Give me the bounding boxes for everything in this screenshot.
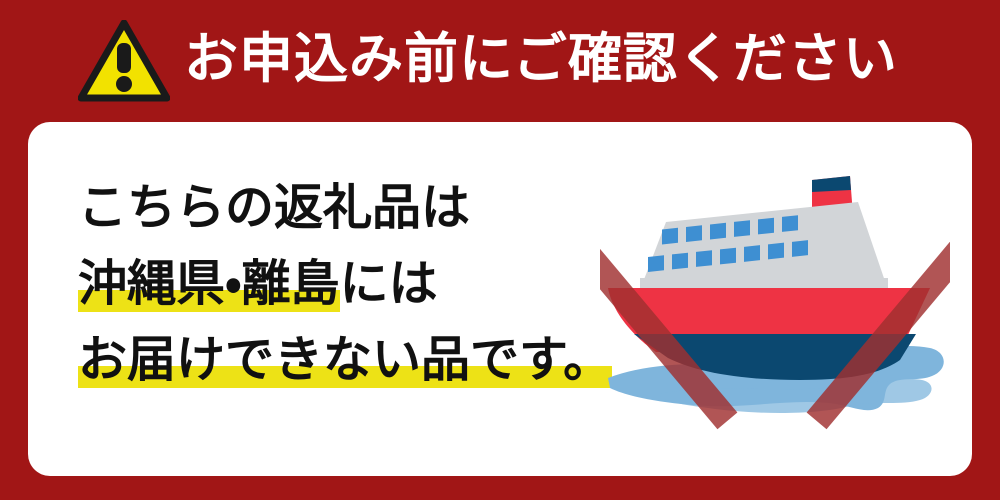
warning-triangle-icon: [78, 20, 170, 102]
message-line-1-text: こちらの返礼品は: [78, 179, 470, 236]
ship-illustration-container: [600, 162, 950, 432]
message-line-3-highlight: お届けできない品です。: [78, 331, 612, 388]
notice-card: こちらの返礼品は 沖縄県・離島には お届けできない品です。: [28, 122, 972, 476]
message-line-3: お届けできない品です。: [78, 322, 638, 398]
ship-superstructure: [640, 202, 888, 292]
message-line-2-tail: には: [340, 255, 438, 312]
message-line-1: こちらの返礼品は: [78, 170, 638, 246]
message-line-2-highlight: 沖縄県・離島: [78, 255, 340, 312]
notice-banner: お申込み前にご確認ください こちらの返礼品は 沖縄県・離島には お届けできない品…: [0, 0, 1000, 500]
banner-header: お申込み前にご確認ください: [0, 0, 1000, 118]
page-title: お申込み前にご確認ください: [184, 32, 898, 86]
message-block: こちらの返礼品は 沖縄県・離島には お届けできない品です。: [78, 170, 638, 398]
message-line-2: 沖縄県・離島には: [78, 246, 638, 322]
ship-prohibited-illustration: [600, 162, 950, 432]
